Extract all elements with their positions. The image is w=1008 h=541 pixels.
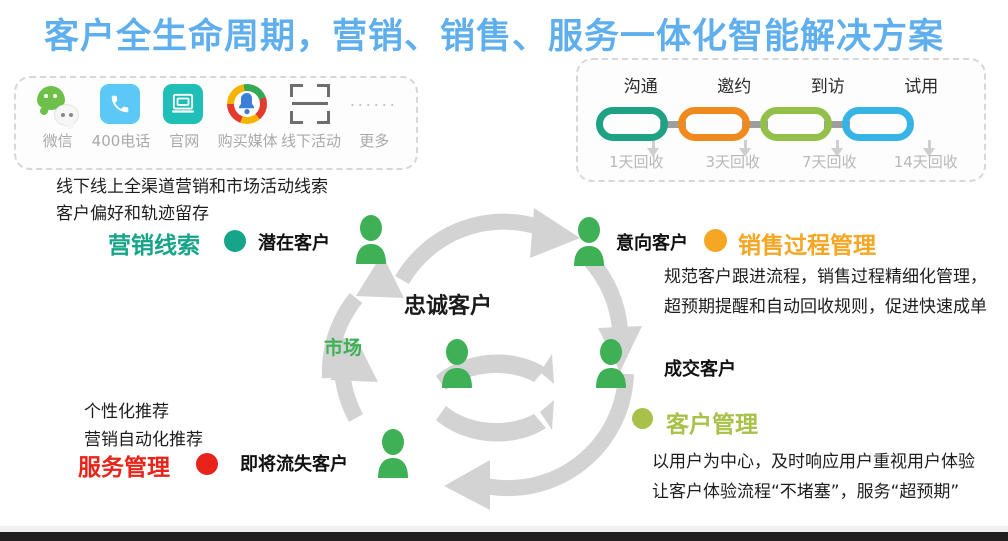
channel-label: 官网 <box>169 130 199 151</box>
channel-label: 更多 <box>359 130 389 151</box>
chain-recycle-label: 14天回收 <box>887 151 965 172</box>
channel-item-wechat[interactable]: 微信 <box>27 84 89 151</box>
customer-line-2: 让客户体验流程“不堵塞”，服务“超预期” <box>652 477 959 502</box>
customer-line-1: 以用户为中心，及时响应用户重视用户体验 <box>652 447 975 472</box>
sales-chain-box: 沟通 邀约 到访 试用 1天回收 3天回收 7天回收 14天回收 <box>576 58 986 182</box>
sales-heading: 销售过程管理 <box>738 226 876 260</box>
page-title: 客户全生命周期，营销、销售、服务一体化智能解决方案 <box>44 8 944 59</box>
stage-label-deal-customer: 成交客户 <box>664 355 736 381</box>
cycle-center-label: 忠诚客户 <box>404 288 492 320</box>
service-line-1: 个性化推荐 <box>84 397 169 422</box>
service-status-dot <box>196 453 218 475</box>
chain-link-row <box>596 104 970 144</box>
slide-canvas: 客户全生命周期，营销、销售、服务一体化智能解决方案 微信 <box>0 0 1008 541</box>
chain-link <box>760 107 832 141</box>
arrow-head-bottom <box>444 460 490 510</box>
sales-line-1: 规范客户跟进流程，销售过程精细化管理， <box>664 262 987 287</box>
person-icon-potential <box>356 215 386 264</box>
marketing-status-dot <box>224 230 246 252</box>
channel-label: 线下活动 <box>281 130 341 151</box>
channel-item-website[interactable]: 官网 <box>153 84 215 151</box>
channel-item-paid-media[interactable]: 购买媒体 <box>217 84 279 151</box>
more-dots-icon: ······ <box>353 84 395 126</box>
channel-label: 微信 <box>43 130 73 151</box>
customer-heading: 客户管理 <box>666 405 758 439</box>
chain-link <box>678 107 750 141</box>
cycle-market-label: 市场 <box>324 333 362 360</box>
chain-step-label: 沟通 <box>606 72 676 97</box>
sales-status-dot <box>704 229 727 252</box>
chain-link <box>842 107 914 141</box>
service-heading: 服务管理 <box>78 448 170 482</box>
chain-step-label: 邀约 <box>699 72 769 97</box>
chain-step-label: 试用 <box>886 72 956 97</box>
chain-recycle-label: 3天回收 <box>694 151 772 172</box>
chain-step-label: 到访 <box>793 72 863 97</box>
person-icon-churn <box>378 429 408 478</box>
offline-event-icon <box>290 84 332 126</box>
sales-line-2: 超预期提醒和自动回收规则，促进快速成单 <box>664 292 987 317</box>
channel-source-box: 微信 400电话 <box>14 76 418 170</box>
person-icon-intent <box>574 217 604 266</box>
chain-recycle-labels: 1天回收 3天回收 7天回收 14天回收 <box>578 151 984 172</box>
cycle-inner-exchange-arrows <box>436 354 554 441</box>
chain-step-labels: 沟通 邀约 到访 试用 <box>578 72 984 97</box>
official-site-icon <box>163 84 205 126</box>
channel-item-phone[interactable]: 400电话 <box>90 84 152 151</box>
marketing-line-1: 线下线上全渠道营销和市场活动线索 <box>56 172 328 197</box>
channel-label: 400电话 <box>92 130 151 151</box>
marketing-heading: 营销线索 <box>108 226 200 260</box>
inner-arrow-head-left <box>540 354 554 384</box>
channel-label: 购买媒体 <box>218 130 278 151</box>
arrow-head-top-right <box>530 208 580 258</box>
channel-icon-row: 微信 400电话 <box>16 84 416 151</box>
phone-400-icon <box>100 84 142 126</box>
channel-item-more[interactable]: ······ 更多 <box>343 84 405 151</box>
wechat-icon <box>37 84 79 126</box>
paid-media-icon <box>227 84 269 126</box>
marketing-line-2: 客户偏好和轨迹留存 <box>56 199 209 224</box>
bottom-strip <box>0 532 1008 541</box>
channel-item-offline-event[interactable]: 线下活动 <box>280 84 342 151</box>
chain-recycle-label: 7天回收 <box>790 151 868 172</box>
chain-link <box>596 107 668 141</box>
service-line-2: 营销自动化推荐 <box>84 425 203 450</box>
chain-recycle-label: 1天回收 <box>597 151 675 172</box>
